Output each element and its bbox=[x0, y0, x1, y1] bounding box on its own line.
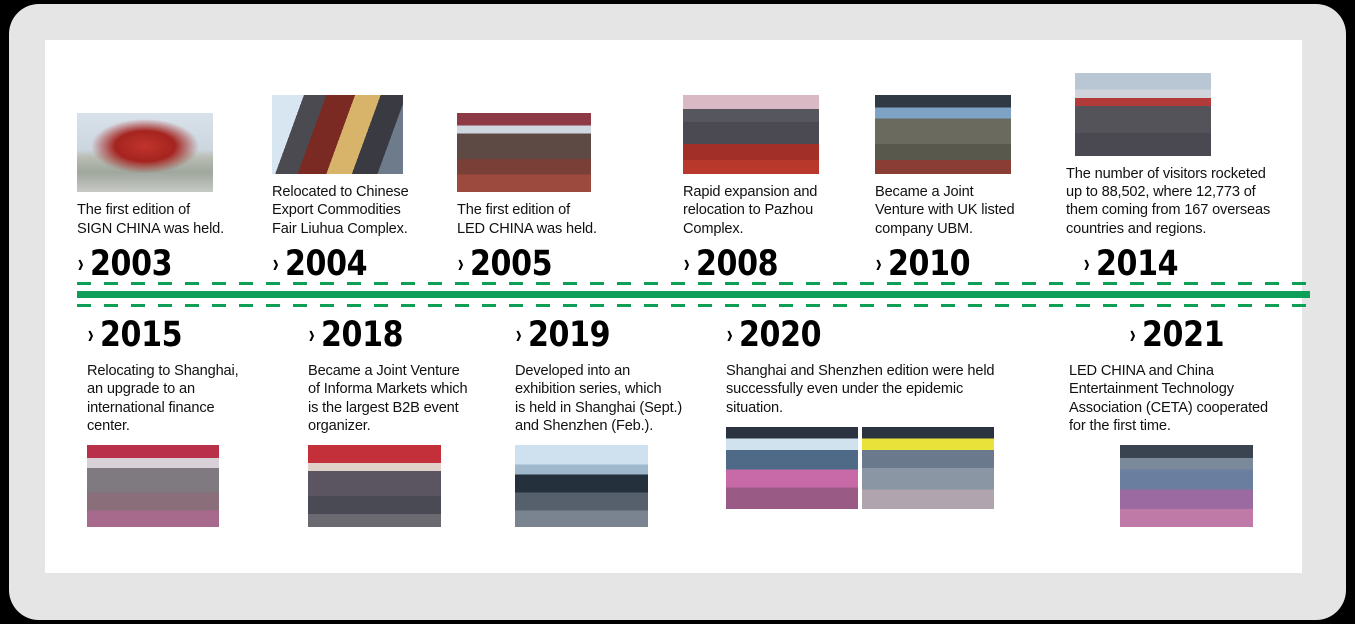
year-label-2020: › 2020 bbox=[726, 318, 975, 353]
year-label-2015: › 2015 bbox=[87, 318, 246, 353]
chevron-right-icon: › bbox=[1084, 250, 1090, 276]
timeline-divider bbox=[77, 282, 1310, 308]
page-root: The first edition of SIGN CHINA was held… bbox=[0, 0, 1355, 624]
year-label-2005: › 2005 bbox=[457, 247, 610, 282]
chevron-right-icon: › bbox=[78, 250, 84, 276]
caption-2010: Became a Joint Venture with UK listed co… bbox=[875, 183, 1060, 238]
year-value-2014: 2014 bbox=[1096, 247, 1178, 282]
year-label-2004: › 2004 bbox=[272, 247, 425, 282]
chevron-right-icon: › bbox=[1130, 321, 1136, 347]
divider-dash-top bbox=[77, 282, 1310, 285]
timeline-item-2005[interactable]: The first edition of LED CHINA was held.… bbox=[457, 113, 635, 282]
timeline-item-2020[interactable]: › 2020 Shanghai and Shenzhen edition wer… bbox=[726, 318, 1016, 509]
photo-2003-sign-china-arch bbox=[77, 113, 213, 192]
chevron-right-icon: › bbox=[684, 250, 690, 276]
timeline-bottom-row: › 2015 Relocating to Shanghai, an upgrad… bbox=[45, 318, 1302, 573]
photo-2010-ubm-jv-hall bbox=[875, 95, 1011, 174]
chevron-right-icon: › bbox=[516, 321, 522, 347]
year-label-2003: › 2003 bbox=[77, 247, 228, 282]
timeline-item-2008[interactable]: Rapid expansion and relocation to Pazhou… bbox=[683, 95, 863, 282]
photo-2021-ceta-cooperation bbox=[1120, 445, 1253, 527]
timeline-item-2018[interactable]: › 2018 Became a Joint Venture of Informa… bbox=[308, 318, 500, 527]
year-label-2008: › 2008 bbox=[683, 247, 838, 282]
caption-2003: The first edition of SIGN CHINA was held… bbox=[77, 201, 252, 238]
timeline-top-row: The first edition of SIGN CHINA was held… bbox=[45, 40, 1302, 282]
year-value-2019: 2019 bbox=[528, 318, 610, 353]
year-label-2019: › 2019 bbox=[515, 318, 691, 353]
timeline-item-2003[interactable]: The first edition of SIGN CHINA was held… bbox=[77, 113, 252, 282]
photo-2018-informa-registration bbox=[308, 445, 441, 527]
caption-2021: LED CHINA and China Entertainment Techno… bbox=[1069, 362, 1301, 435]
photo-2020-shanghai-edition bbox=[726, 427, 858, 509]
chevron-right-icon: › bbox=[309, 321, 315, 347]
year-value-2020: 2020 bbox=[739, 318, 821, 353]
year-value-2018: 2018 bbox=[321, 318, 403, 353]
year-value-2015: 2015 bbox=[100, 318, 182, 353]
photo-2015-shanghai-hall bbox=[87, 445, 219, 527]
timeline-card: The first edition of SIGN CHINA was held… bbox=[45, 40, 1302, 573]
caption-2019: Developed into an exhibition series, whi… bbox=[515, 362, 720, 435]
chevron-right-icon: › bbox=[273, 250, 279, 276]
photo-2014-visitors-entrance bbox=[1075, 73, 1211, 156]
photo-pair-2020 bbox=[726, 427, 1016, 509]
year-label-2010: › 2010 bbox=[875, 247, 1034, 282]
photo-2005-led-china-hall bbox=[457, 113, 591, 192]
chevron-right-icon: › bbox=[458, 250, 464, 276]
caption-2020: Shanghai and Shenzhen edition were held … bbox=[726, 362, 1036, 417]
year-value-2021: 2021 bbox=[1142, 318, 1224, 353]
chevron-right-icon: › bbox=[876, 250, 882, 276]
caption-2008: Rapid expansion and relocation to Pazhou… bbox=[683, 183, 863, 238]
divider-solid-bar bbox=[77, 291, 1310, 298]
caption-2014: The number of visitors rocketed up to 88… bbox=[1066, 165, 1296, 238]
year-label-2014: › 2014 bbox=[1083, 247, 1266, 282]
timeline-item-2004[interactable]: Relocated to Chinese Export Commodities … bbox=[272, 95, 450, 282]
year-value-2003: 2003 bbox=[90, 247, 172, 282]
caption-2004: Relocated to Chinese Export Commodities … bbox=[272, 183, 450, 238]
year-label-2018: › 2018 bbox=[308, 318, 473, 353]
year-value-2010: 2010 bbox=[888, 247, 970, 282]
photo-2008-pazhou-crowd bbox=[683, 95, 819, 174]
timeline-item-2015[interactable]: › 2015 Relocating to Shanghai, an upgrad… bbox=[87, 318, 272, 527]
caption-2018: Became a Joint Venture of Informa Market… bbox=[308, 362, 500, 435]
timeline-item-2019[interactable]: › 2019 Developed into an exhibition seri… bbox=[515, 318, 720, 527]
timeline-item-2010[interactable]: Became a Joint Venture with UK listed co… bbox=[875, 95, 1060, 282]
year-value-2008: 2008 bbox=[696, 247, 778, 282]
chevron-right-icon: › bbox=[727, 321, 733, 347]
photo-2004-liuhua-complex-booth bbox=[272, 95, 403, 174]
year-value-2004: 2004 bbox=[285, 247, 367, 282]
divider-dash-bottom bbox=[77, 304, 1310, 307]
photo-2020-shenzhen-edition bbox=[862, 427, 994, 509]
year-label-2021: › 2021 bbox=[1129, 318, 1277, 353]
timeline-item-2014[interactable]: The number of visitors rocketed up to 88… bbox=[1066, 73, 1296, 282]
timeline-item-2021[interactable]: › 2021 LED CHINA and China Entertainment… bbox=[1069, 318, 1301, 527]
year-value-2005: 2005 bbox=[470, 247, 552, 282]
caption-2015: Relocating to Shanghai, an upgrade to an… bbox=[87, 362, 272, 435]
caption-2005: The first edition of LED CHINA was held. bbox=[457, 201, 635, 238]
chevron-right-icon: › bbox=[88, 321, 94, 347]
photo-2019-exhibition-series bbox=[515, 445, 648, 527]
